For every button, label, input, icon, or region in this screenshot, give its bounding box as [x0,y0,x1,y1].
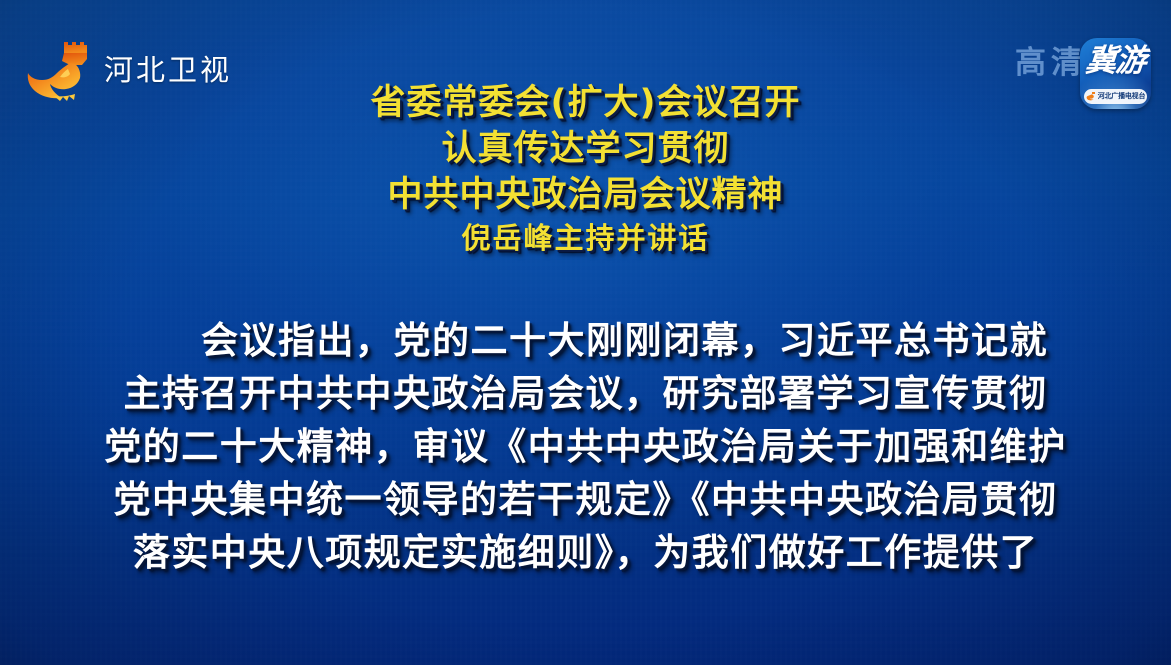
body-line-4: 党中央集中统一领导的若干规定》《中共中央政治局贯彻 [0,481,1171,518]
app-badge: 冀游 河北广播电视台 [1080,38,1151,109]
app-badge-station-name: 河北广播电视台 [1098,93,1146,100]
app-badge-calligraphy: 冀游 [1080,45,1151,78]
headline-line-3: 中共中央政治局会议精神 [0,178,1171,213]
headline-line-2: 认真传达学习贯彻 [0,132,1171,167]
great-wall-ribbon-icon [24,36,98,104]
body-line-2: 主持召开中共中央政治局会议，研究部署学习宣传贯彻 [0,375,1171,412]
headline-subline: 倪岳峰主持并讲话 [0,224,1171,253]
body-line-1: 会议指出，党的二十大刚刚闭幕，习近平总书记就 [0,322,1171,359]
body-line-3: 党的二十大精神，审议《中共中央政治局关于加强和维护 [0,428,1171,465]
body-copy-block: 会议指出，党的二十大刚刚闭幕，习近平总书记就 主持召开中共中央政治局会议，研究部… [0,322,1171,587]
headline-block: 省委常委会(扩大)会议召开 认真传达学习贯彻 中共中央政治局会议精神 倪岳峰主持… [0,86,1171,253]
hd-indicator-label: 高清 [1015,48,1087,79]
channel-logo: 河北卫视 [24,36,232,104]
app-badge-station-pill: 河北广播电视台 [1084,89,1147,104]
hebei-flame-icon [1086,92,1096,101]
channel-wordmark: 河北卫视 [104,56,232,85]
broadcast-screen: 河北卫视 高清 冀游 河北广播电视台 省委常委会(扩大)会议召开 认真传达学习贯… [0,0,1171,665]
body-line-5: 落实中央八项规定实施细则》，为我们做好工作提供了 [0,534,1171,571]
